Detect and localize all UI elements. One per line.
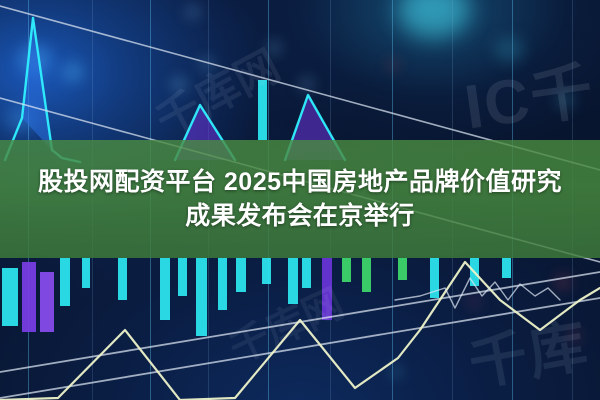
watermark-top-right: IC千 xyxy=(458,39,599,146)
banner-image: 千库网 千库网 IC千 千库 股投网配资平台 2025中国房地产品牌价值研究 成… xyxy=(0,0,600,400)
green-overlay-band xyxy=(0,140,600,258)
